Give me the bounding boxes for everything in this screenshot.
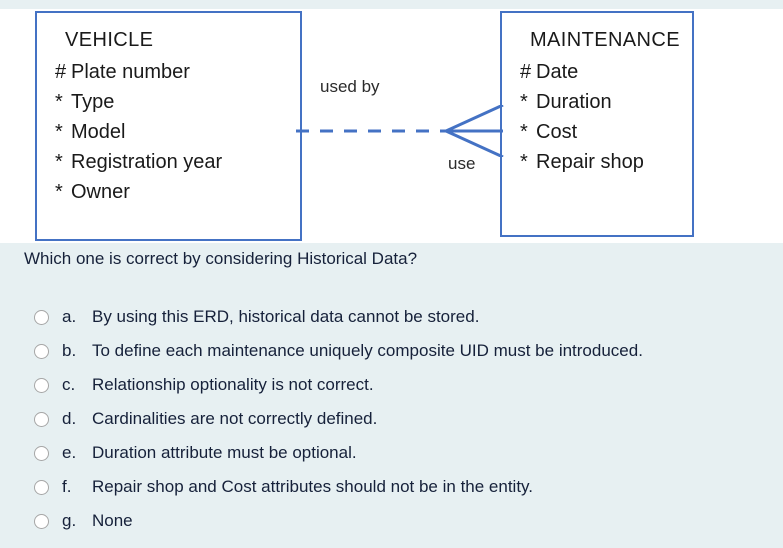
answer-option-g[interactable]: g. None — [34, 504, 774, 538]
attribute-label: Cost — [536, 121, 577, 143]
radio-button-g[interactable] — [34, 514, 49, 529]
option-letter-g: g. — [62, 511, 92, 531]
answer-option-e[interactable]: e. Duration attribute must be optional. — [34, 436, 774, 470]
attribute-row: *Registration year — [55, 147, 300, 177]
radio-button-a[interactable] — [34, 310, 49, 325]
attribute-marker-icon: * — [55, 117, 71, 147]
entity-title-maintenance: MAINTENANCE — [520, 27, 692, 53]
entity-box-maintenance: MAINTENANCE #Date *Duration *Cost *Repai… — [500, 11, 694, 237]
attribute-row: *Repair shop — [520, 147, 692, 177]
answer-option-c[interactable]: c. Relationship optionality is not corre… — [34, 368, 774, 402]
option-text-d: Cardinalities are not correctly defined. — [92, 409, 377, 429]
radio-button-d[interactable] — [34, 412, 49, 427]
entity-box-vehicle: VEHICLE #Plate number *Type *Model *Regi… — [35, 11, 302, 241]
option-text-b: To define each maintenance uniquely comp… — [92, 341, 643, 361]
attribute-label: Plate number — [71, 61, 190, 83]
attribute-label: Owner — [71, 181, 130, 203]
option-text-f: Repair shop and Cost attributes should n… — [92, 477, 533, 497]
attribute-row: #Plate number — [55, 57, 300, 87]
attribute-marker-icon: * — [520, 117, 536, 147]
attribute-marker-icon: * — [55, 177, 71, 207]
attribute-row: #Date — [520, 57, 692, 87]
attribute-label: Type — [71, 91, 114, 113]
option-letter-b: b. — [62, 341, 92, 361]
radio-button-e[interactable] — [34, 446, 49, 461]
answer-options-list: a. By using this ERD, historical data ca… — [34, 300, 774, 538]
answer-option-b[interactable]: b. To define each maintenance uniquely c… — [34, 334, 774, 368]
relationship-connector — [296, 105, 511, 157]
option-text-g: None — [92, 511, 133, 531]
option-letter-c: c. — [62, 375, 92, 395]
attribute-marker-icon: * — [520, 87, 536, 117]
option-letter-e: e. — [62, 443, 92, 463]
attribute-label: Repair shop — [536, 151, 644, 173]
attribute-marker-icon: # — [55, 57, 71, 87]
radio-button-f[interactable] — [34, 480, 49, 495]
answer-option-d[interactable]: d. Cardinalities are not correctly defin… — [34, 402, 774, 436]
option-text-e: Duration attribute must be optional. — [92, 443, 357, 463]
attribute-label: Registration year — [71, 151, 222, 173]
attribute-row: *Duration — [520, 87, 692, 117]
attribute-marker-icon: * — [520, 147, 536, 177]
attribute-row: *Cost — [520, 117, 692, 147]
entity-title-vehicle: VEHICLE — [55, 27, 300, 53]
radio-button-b[interactable] — [34, 344, 49, 359]
attribute-marker-icon: * — [55, 147, 71, 177]
answer-option-f[interactable]: f. Repair shop and Cost attributes shoul… — [34, 470, 774, 504]
radio-button-c[interactable] — [34, 378, 49, 393]
attribute-marker-icon: * — [55, 87, 71, 117]
relationship-label-use: use — [448, 154, 475, 174]
option-letter-d: d. — [62, 409, 92, 429]
answer-option-a[interactable]: a. By using this ERD, historical data ca… — [34, 300, 774, 334]
erd-diagram-region: VEHICLE #Plate number *Type *Model *Regi… — [0, 9, 783, 243]
attribute-label: Duration — [536, 91, 612, 113]
attribute-marker-icon: # — [520, 57, 536, 87]
attribute-row: *Type — [55, 87, 300, 117]
question-prompt: Which one is correct by considering Hist… — [24, 249, 417, 269]
attribute-row: *Model — [55, 117, 300, 147]
option-text-a: By using this ERD, historical data canno… — [92, 307, 479, 327]
option-letter-f: f. — [62, 477, 92, 497]
option-letter-a: a. — [62, 307, 92, 327]
attribute-list-vehicle: #Plate number *Type *Model *Registration… — [55, 57, 300, 207]
attribute-row: *Owner — [55, 177, 300, 207]
crows-foot-upper-prong — [446, 105, 503, 131]
attribute-label: Date — [536, 61, 578, 83]
attribute-list-maintenance: #Date *Duration *Cost *Repair shop — [520, 57, 692, 177]
option-text-c: Relationship optionality is not correct. — [92, 375, 374, 395]
relationship-label-used-by: used by — [320, 77, 380, 97]
attribute-label: Model — [71, 121, 125, 143]
